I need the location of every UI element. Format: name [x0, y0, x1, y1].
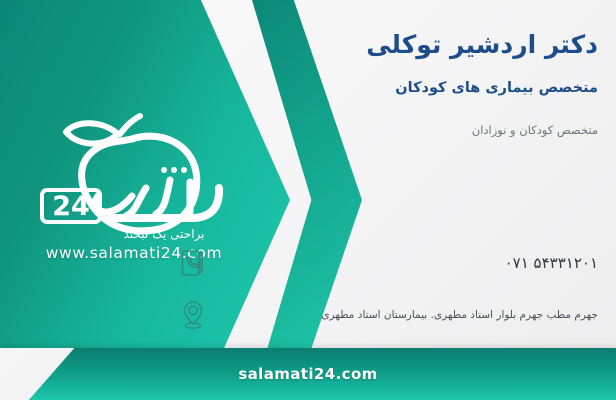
business-card: 24 براحتی یک لبخند www.salamati24.com دک…: [0, 0, 616, 400]
contact-row-address[interactable]: جهرم مطب جهرم بلوار استاد مطهری. بیمارست…: [178, 298, 598, 332]
phone-book-icon: [178, 246, 208, 280]
doctor-name: دکتر اردشیر توکلی: [198, 28, 598, 62]
footer-bar: salamati24.com: [0, 348, 616, 400]
phone-number-text: ۵۴۳۳۱۲۰۱ ۰۷۱: [220, 254, 598, 272]
doctor-specialty-primary: متخصص بیماری های کودکان: [198, 78, 598, 100]
footer-url-text[interactable]: salamati24.com: [238, 365, 377, 383]
footer-diagonal-cut: [0, 348, 120, 400]
logo-tagline-text: براحتی یک لبخند: [124, 227, 205, 242]
svg-text:24: 24: [52, 191, 90, 222]
doctor-info-block: دکتر اردشیر توکلی متخصص بیماری های کودکا…: [198, 28, 598, 139]
apple-stem-icon: [120, 116, 140, 134]
contact-row-phone[interactable]: ۵۴۳۳۱۲۰۱ ۰۷۱: [178, 246, 598, 280]
location-pin-icon: [178, 298, 208, 332]
apple-leaf-icon: [66, 123, 118, 143]
contact-list: ۵۴۳۳۱۲۰۱ ۰۷۱ جهرم مطب جهرم بلوار استاد م…: [178, 246, 598, 350]
doctor-specialty-secondary: متخصص کودکان و نوزادان: [198, 122, 598, 139]
wordmark-strokes: [95, 167, 219, 218]
address-text: جهرم مطب جهرم بلوار استاد مطهری. بیمارست…: [220, 307, 598, 324]
